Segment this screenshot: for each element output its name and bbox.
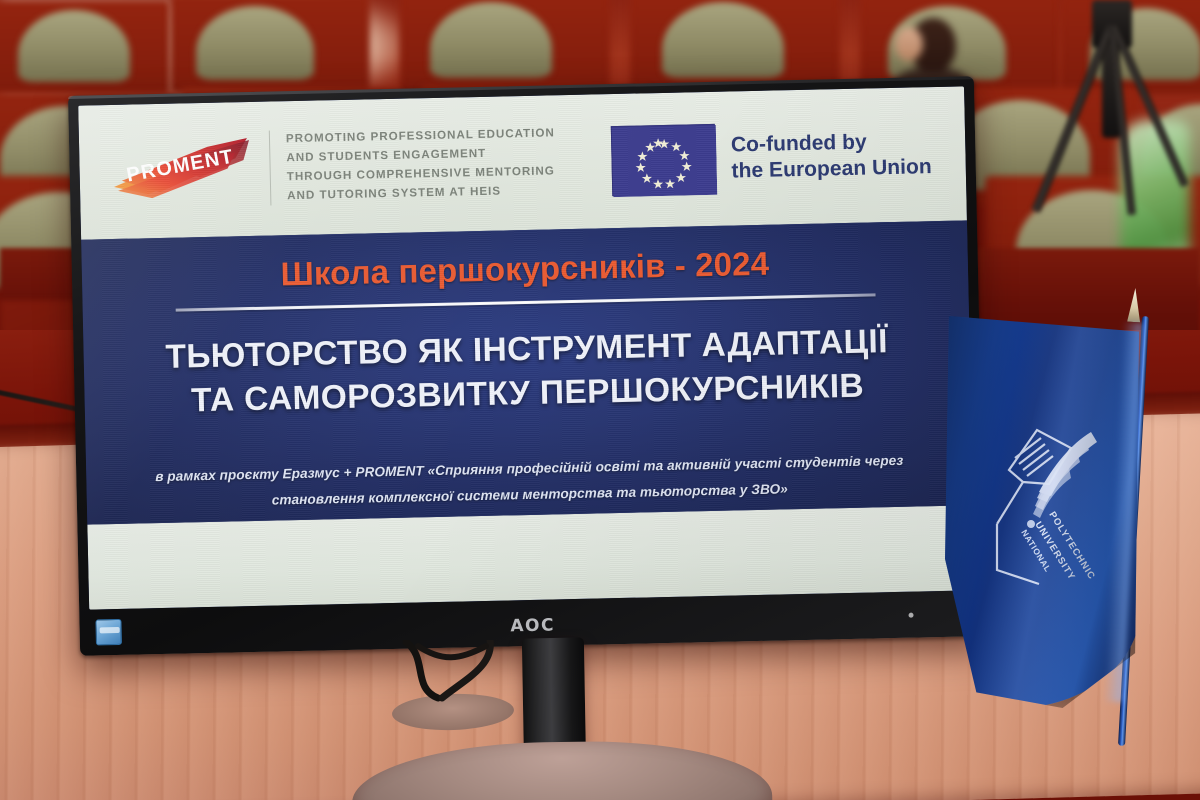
slide-header: PROMENT PROMOTING PROFESSIONAL EDUCATION… [78,86,967,239]
proment-tagline: PROMOTING PROFESSIONAL EDUCATION AND STU… [269,125,556,206]
presentation-slide: PROMENT PROMOTING PROFESSIONAL EDUCATION… [78,86,975,609]
monitor-bezel: PROMENT PROMOTING PROFESSIONAL EDUCATION… [68,76,986,656]
eu-funding-text: Co-funded by the European Union [731,128,932,184]
slide-main-title: ТЬЮТОРСТВО ЯК ІНСТРУМЕНТ АДАПТАЦІЇ ТА СА… [165,320,889,424]
intel-sticker [95,619,122,646]
table-flag: POLYTECHNIC UNIVERSITY NATIONAL [945,282,1200,742]
monitor-cables [398,640,506,712]
slide-event-title: Школа першокурсників - 2024 [280,244,769,293]
proment-logo-block: PROMENT PROMOTING PROFESSIONAL EDUCATION… [107,125,556,210]
monitor: PROMENT PROMOTING PROFESSIONAL EDUCATION… [68,76,986,656]
title-divider [176,293,876,311]
eu-funding-block: Co-funded by the European Union [611,119,943,196]
eu-flag-icon [611,124,717,196]
slide-project-note: в рамках проєкту Еразмус + PROMENT «Спри… [155,448,904,517]
camera-tripod [1040,0,1200,230]
power-led-indicator [908,613,913,618]
monitor-screen: PROMENT PROMOTING PROFESSIONAL EDUCATION… [78,86,975,609]
slide-body: Школа першокурсників - 2024 ТЬЮТОРСТВО Я… [81,220,973,525]
proment-logo-icon: PROMENT [107,132,259,209]
flag-finial [1127,288,1142,323]
